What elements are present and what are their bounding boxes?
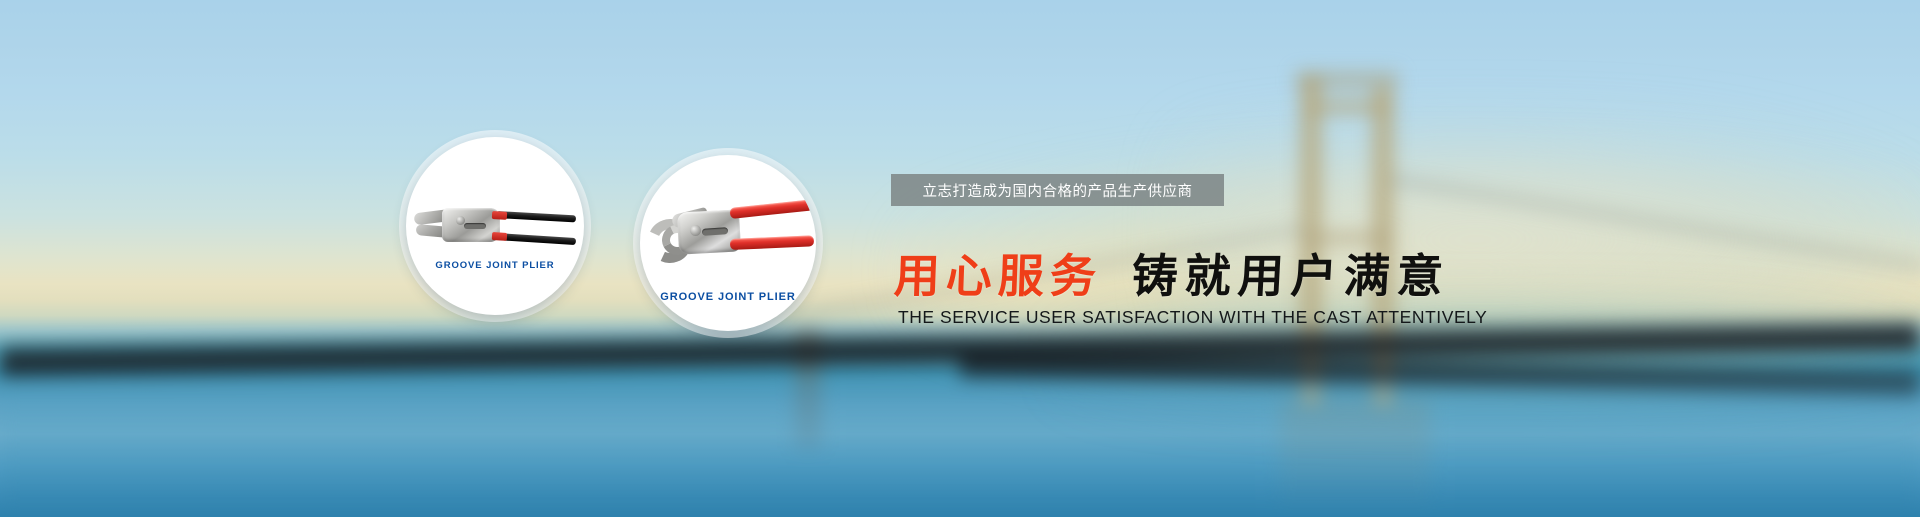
slogan-secondary: 铸就用户满意 <box>1130 240 1451 306</box>
groove-joint-plier-black-icon <box>412 203 578 251</box>
tagline-bar: 立志打造成为国内合格的产品生产供应商 <box>891 174 1224 206</box>
slogan: 用心服务 铸就用户满意 <box>894 240 1450 306</box>
plier-handle-top <box>496 211 576 222</box>
product-caption-1: GROOVE JOINT PLIER <box>406 260 584 271</box>
tagline-text: 立志打造成为国内合格的产品生产供应商 <box>923 180 1193 201</box>
water-surface <box>0 378 1920 517</box>
product-caption-2: GROOVE JOINT PLIER <box>640 291 816 303</box>
plier-grip-top <box>729 199 814 219</box>
plier-pivot-rivet <box>456 216 465 225</box>
plier-ferrule-bottom <box>492 232 507 241</box>
slogan-english-subtitle: THE SERVICE USER SATISFACTION WITH THE C… <box>898 307 1487 328</box>
plier-handle-bottom <box>496 233 576 245</box>
plier-pivot-rivet <box>690 225 701 236</box>
plier-groove-slot <box>464 223 486 229</box>
slogan-primary: 用心服务 <box>893 240 1103 306</box>
bridge-tower-crossbeam-upper <box>1300 100 1394 114</box>
product-circle-1[interactable]: GROOVE JOINT PLIER <box>406 137 584 315</box>
bridge-tower-cap <box>1296 72 1398 88</box>
hero-banner: GROOVE JOINT PLIER GROOVE JOINT PLIER 立志… <box>0 0 1920 517</box>
plier-grip-bottom <box>730 235 814 250</box>
groove-joint-plier-red-icon <box>648 205 814 277</box>
product-circle-2[interactable]: GROOVE JOINT PLIER <box>640 155 816 331</box>
plier-ferrule-top <box>492 211 507 220</box>
bridge-cable-right <box>1389 176 1920 269</box>
